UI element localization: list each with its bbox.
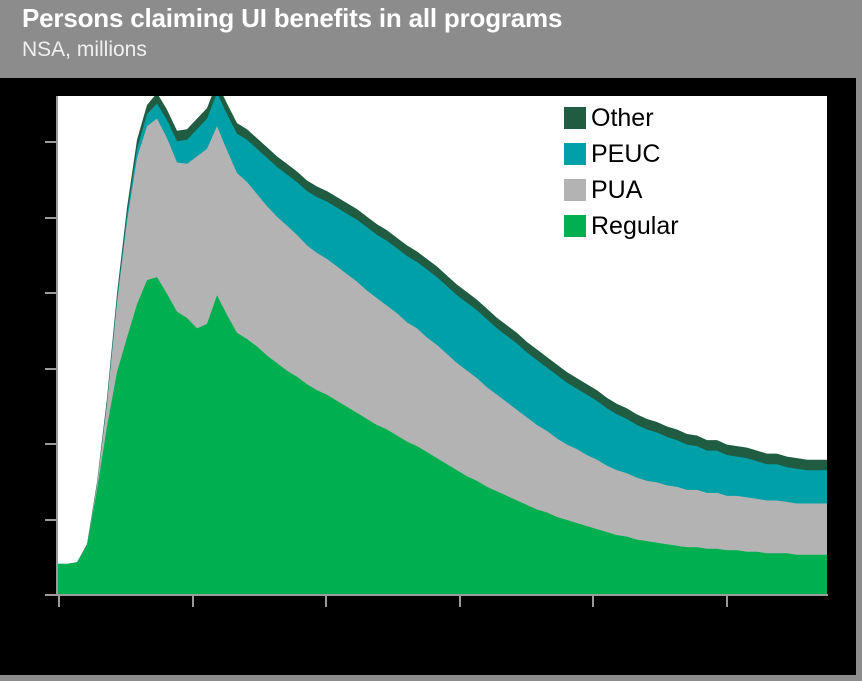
page-title: Persons claiming UI benefits in all prog…: [22, 3, 562, 34]
x-tick: [726, 596, 728, 607]
y-tick: [45, 368, 56, 370]
y-tick: [45, 594, 56, 596]
x-tick: [592, 596, 594, 607]
y-tick: [45, 141, 56, 143]
legend-swatch-peuc-icon: [564, 143, 586, 165]
legend-swatch-pua-icon: [564, 179, 586, 201]
legend-swatch-other-icon: [564, 107, 586, 129]
right-border: [856, 78, 862, 681]
x-tick: [192, 596, 194, 607]
y-tick: [45, 292, 56, 294]
x-tick: [58, 596, 60, 607]
legend-item-other[interactable]: Other: [564, 100, 679, 136]
legend-label: Other: [591, 106, 654, 131]
legend-item-pua[interactable]: PUA: [564, 172, 679, 208]
legend-item-regular[interactable]: Regular: [564, 208, 679, 244]
y-tick: [45, 519, 56, 521]
x-tick: [325, 596, 327, 607]
y-tick: [45, 217, 56, 219]
legend-label: PEUC: [591, 142, 660, 167]
page-subtitle: NSA, millions: [22, 38, 147, 62]
legend-label: PUA: [591, 178, 642, 203]
legend-item-peuc[interactable]: PEUC: [564, 136, 679, 172]
chart-legend: OtherPEUCPUARegular: [564, 100, 679, 244]
x-axis-line: [56, 594, 828, 596]
plot-area: [57, 96, 827, 594]
y-axis-line: [56, 96, 58, 595]
x-tick: [459, 596, 461, 607]
legend-label: Regular: [591, 214, 679, 239]
chart-body: OtherPEUCPUARegular: [0, 78, 862, 681]
y-tick: [45, 443, 56, 445]
bottom-border: [0, 675, 862, 681]
legend-swatch-regular-icon: [564, 215, 586, 237]
chart-screenshot: Persons claiming UI benefits in all prog…: [0, 0, 862, 681]
stacked-area-svg: [57, 96, 827, 594]
chart-header: Persons claiming UI benefits in all prog…: [0, 0, 862, 78]
